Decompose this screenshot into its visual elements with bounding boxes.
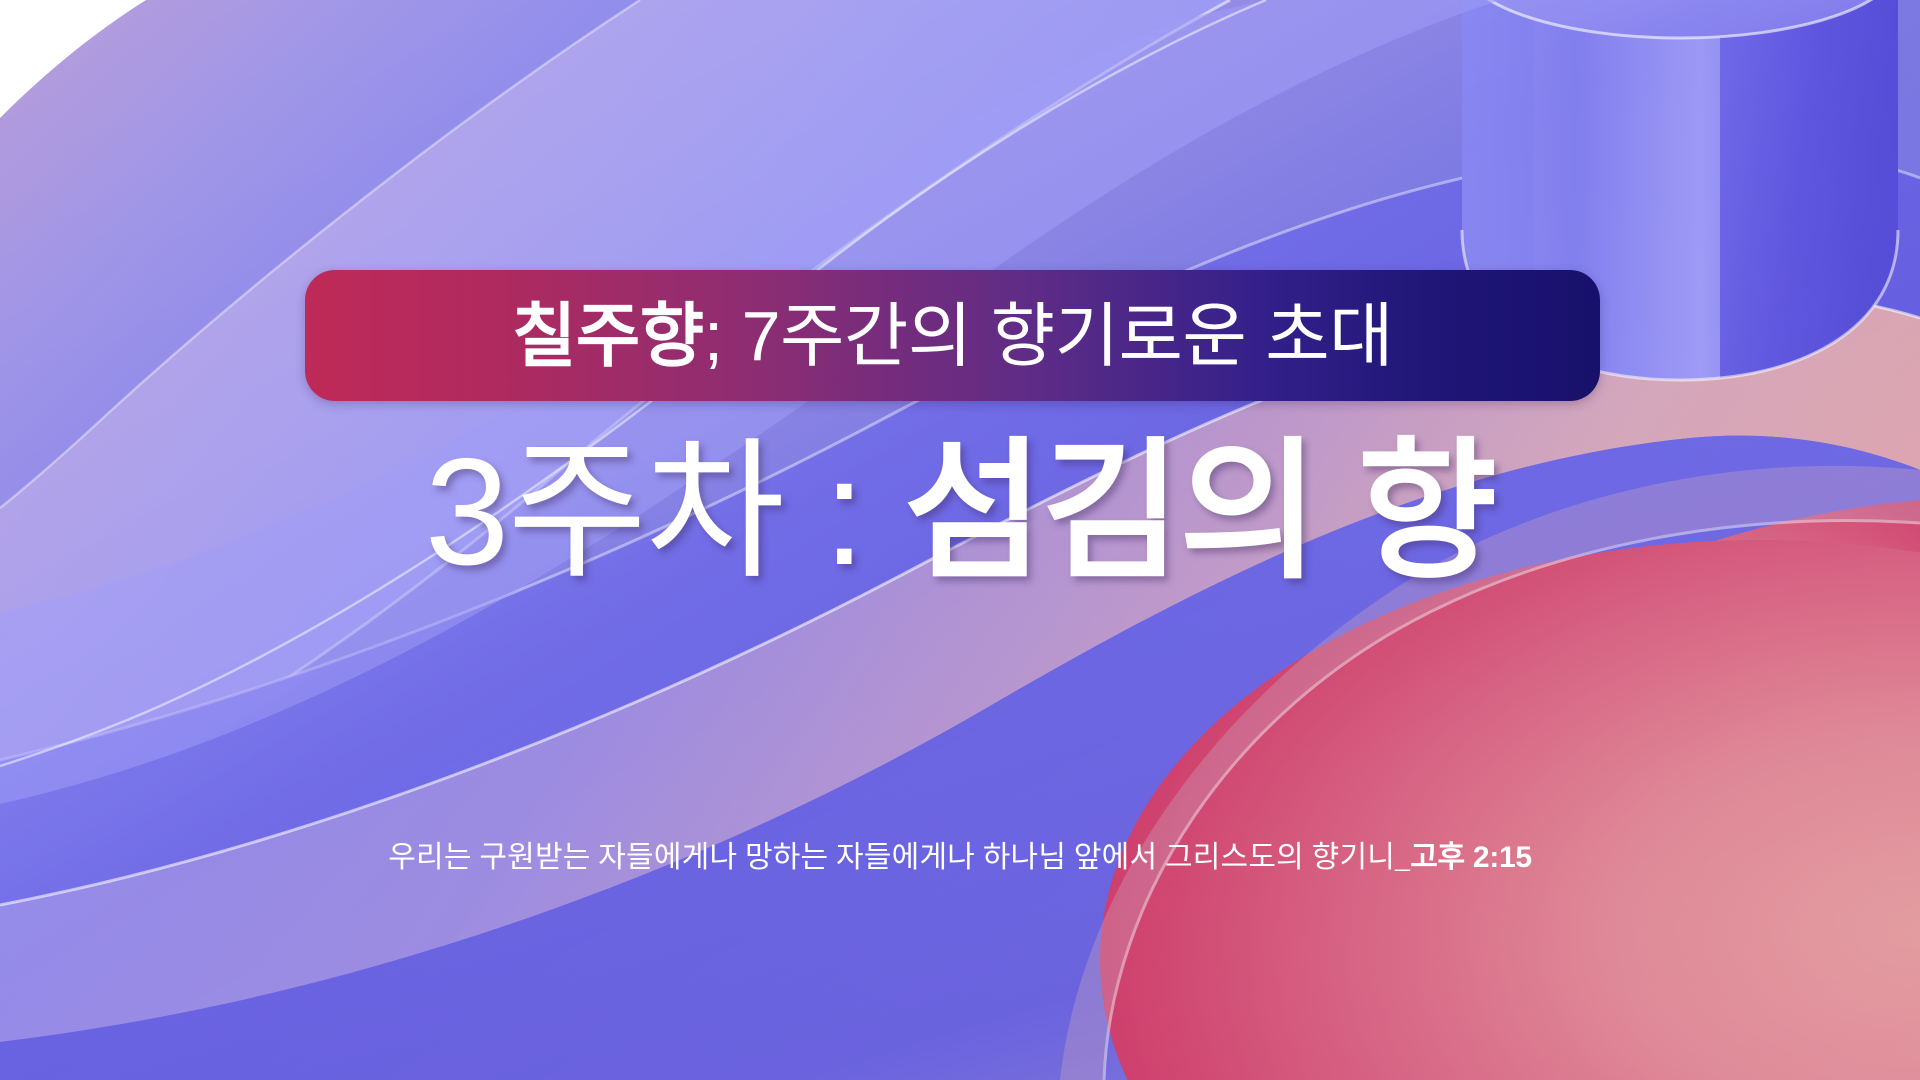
headline-week: 3주차 : — [425, 427, 904, 597]
series-banner-text: 칠주향; 7주간의 향기로운 초대 — [512, 301, 1393, 371]
series-banner-pill: 칠주향; 7주간의 향기로운 초대 — [305, 270, 1600, 401]
series-banner-emphasis: 칠주향 — [512, 297, 704, 375]
headline-topic: 섬김의 향 — [904, 427, 1496, 597]
sermon-headline: 3주차 : 섬김의 향 — [0, 430, 1920, 594]
verse-body: 우리는 구원받는 자들에게나 망하는 자들에게나 하나님 앞에서 그리스도의 향… — [388, 841, 1410, 874]
verse-reference: 고후 2:15 — [1410, 841, 1531, 874]
series-banner-rest: ; 7주간의 향기로운 초대 — [704, 297, 1393, 375]
slide-canvas: 칠주향; 7주간의 향기로운 초대 3주차 : 섬김의 향 우리는 구원받는 자… — [0, 0, 1920, 1080]
scripture-verse: 우리는 구원받는 자들에게나 망하는 자들에게나 하나님 앞에서 그리스도의 향… — [0, 838, 1920, 877]
